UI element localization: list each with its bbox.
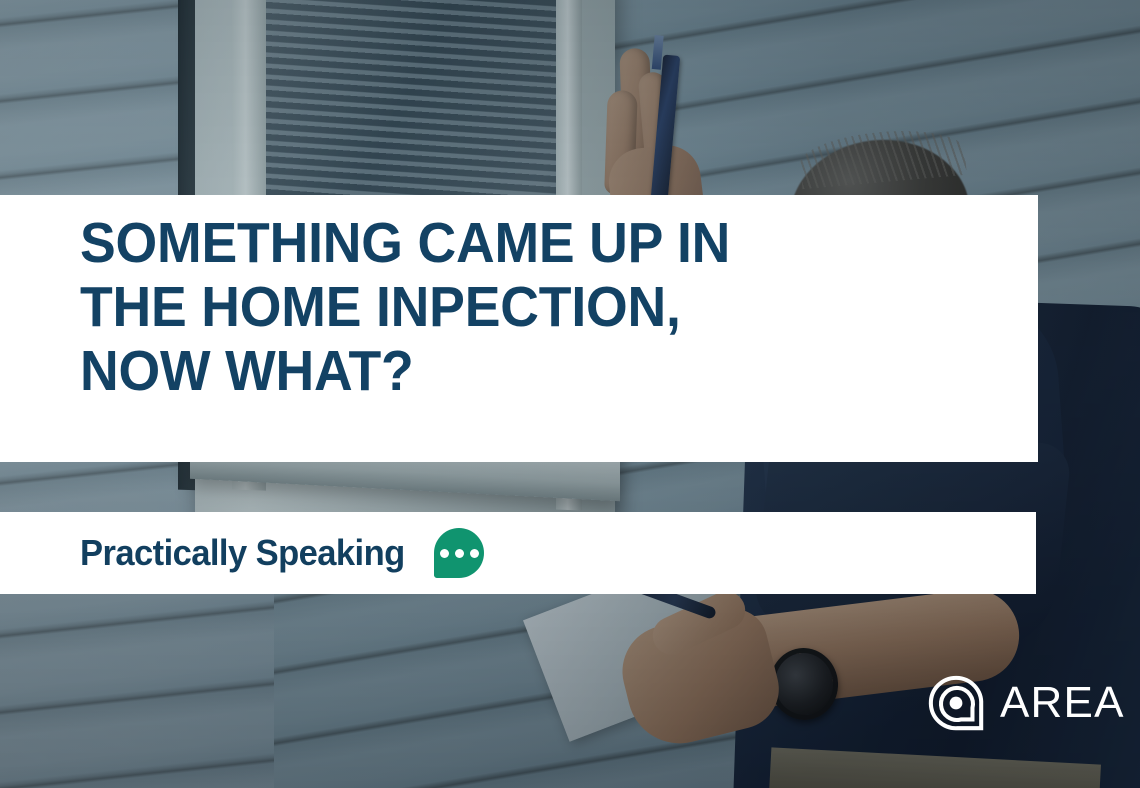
chat-bubble-ellipsis-icon <box>434 528 484 578</box>
ellipsis-dot <box>455 549 464 558</box>
area-spiral-logo-icon <box>925 672 987 734</box>
headline-text: SOMETHING CAME UP IN THE HOME INPECTION,… <box>80 212 926 403</box>
brand-name: AREA <box>1000 678 1125 728</box>
series-label-group: Practically Speaking <box>80 528 484 578</box>
ellipsis-dot <box>470 549 479 558</box>
series-label: Practically Speaking <box>80 532 405 574</box>
promo-card: SOMETHING CAME UP IN THE HOME INPECTION,… <box>0 0 1140 788</box>
ellipsis-dot <box>440 549 449 558</box>
brand-lockup: AREA <box>925 672 1125 734</box>
